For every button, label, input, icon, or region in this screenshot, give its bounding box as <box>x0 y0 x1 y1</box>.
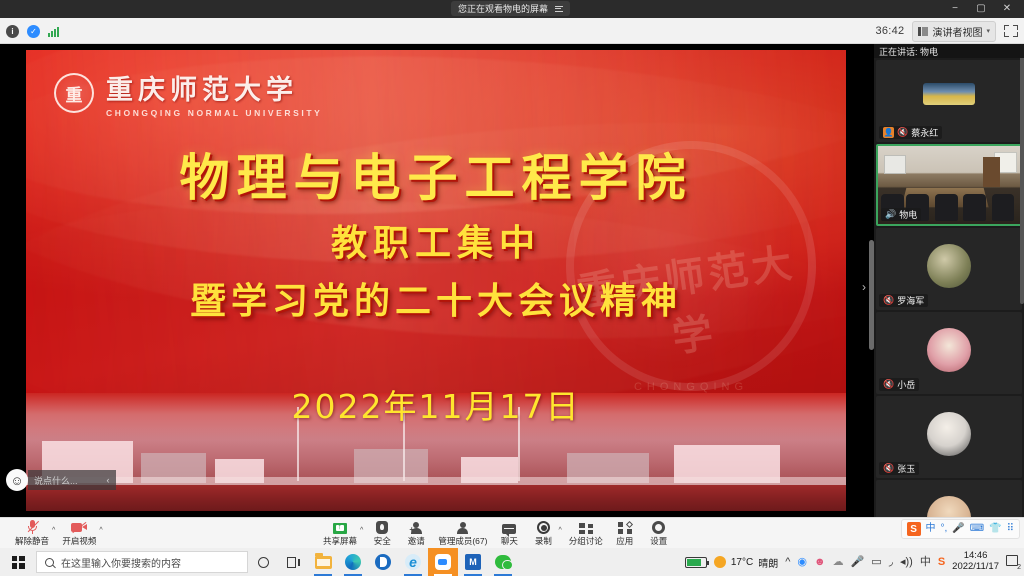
share-options-icon[interactable] <box>555 6 563 12</box>
search-placeholder: 在这里输入你要搜索的内容 <box>61 555 181 570</box>
taskbar-clock[interactable]: 14:46 2022/11/17 <box>952 551 999 572</box>
volume-icon[interactable]: ◂)) <box>900 557 913 568</box>
system-tray: 17°C 晴朗 ^ ◉ ☻ ☁ 🎤 ▭ ◞ ◂)) 中 S 14:46 2022… <box>685 548 1020 576</box>
taskbar-app-wechat[interactable] <box>488 548 518 576</box>
cloud-tray-icon[interactable]: ☁ <box>833 557 844 568</box>
university-logo: 重 重庆师范大学 CHONGQING NORMAL UNIVERSITY <box>54 68 322 118</box>
security-label: 安全 <box>374 535 391 547</box>
zoom-titlebar: 您正在观看物电的屏幕 − ▢ ✕ <box>0 0 1024 18</box>
record-button[interactable]: 录制 <box>526 518 560 549</box>
participant-name: 蔡永红 <box>911 126 938 139</box>
meeting-control-bar: 解除静音 ^ 开启视频 ^ 共享屏幕 ^ 安全 + <box>0 517 1024 548</box>
mic-active-icon: 🔊 <box>885 210 896 219</box>
clock-date: 2022/11/17 <box>952 562 999 573</box>
ime-voice-icon[interactable]: 🎤 <box>952 524 964 534</box>
taskbar-app-browser[interactable] <box>398 548 428 576</box>
filmstrip-scrollbar[interactable] <box>1020 44 1024 304</box>
chat-collapse-icon[interactable]: ‹ <box>100 470 116 490</box>
start-video-label: 开启视频 <box>62 535 96 547</box>
microsoft-edge-icon <box>345 554 361 570</box>
record-icon <box>537 520 550 534</box>
participant-name-badge: 🔇 张玉 <box>879 462 919 475</box>
start-button[interactable] <box>0 548 36 576</box>
slide-subtitle-2: 暨学习党的二十大会议精神 <box>26 272 846 324</box>
settings-label: 设置 <box>650 535 667 547</box>
cortana-icon <box>258 557 269 568</box>
start-video-button[interactable]: 开启视频 <box>57 518 101 549</box>
taskbar-app-edge[interactable] <box>338 548 368 576</box>
meeting-timer: 36:42 <box>875 25 904 37</box>
avatar <box>927 412 971 456</box>
university-seal-icon: 重 <box>54 73 94 113</box>
taskbar-app-zoom[interactable] <box>428 548 458 576</box>
ime-tray-icon[interactable]: 中 <box>920 557 931 568</box>
avatar <box>927 244 971 288</box>
participant-tile-zhangyu[interactable]: 🔇 张玉 <box>876 396 1022 478</box>
speaker-view-icon <box>918 27 928 36</box>
participants-button[interactable]: 管理成员(67) <box>433 518 492 549</box>
breakout-rooms-button[interactable]: 分组讨论 <box>564 518 608 549</box>
security-button[interactable]: 安全 <box>365 518 399 549</box>
university-name-en: CHONGQING NORMAL UNIVERSITY <box>106 108 322 118</box>
meeting-info-bar: i ✓ 36:42 演讲者视图 ▾ <box>0 18 1024 44</box>
share-screen-label: 共享屏幕 <box>323 535 357 547</box>
task-view-button[interactable] <box>278 548 308 576</box>
settings-button[interactable]: 设置 <box>642 518 676 549</box>
participant-name-badge: 🔇 小岳 <box>879 378 919 391</box>
apps-icon <box>618 520 632 534</box>
unmute-button[interactable]: 解除静音 <box>10 518 54 549</box>
ime-skin-icon[interactable]: 👕 <box>989 524 1001 534</box>
settings-gear-icon <box>652 520 665 534</box>
invite-button[interactable]: + 邀请 <box>399 518 433 549</box>
host-badge-icon: 👤 <box>883 127 894 138</box>
maximize-button[interactable]: ▢ <box>968 0 994 18</box>
notification-count: 2 <box>1017 564 1021 571</box>
screen-share-notice[interactable]: 您正在观看物电的屏幕 <box>451 1 570 16</box>
security-shield-icon <box>376 520 388 534</box>
search-icon <box>45 558 54 567</box>
cortana-button[interactable] <box>248 548 278 576</box>
ime-toolbox-icon[interactable]: ⠿ <box>1007 524 1014 534</box>
tray-overflow-chevron-icon[interactable]: ^ <box>785 557 790 568</box>
microphone-tray-icon[interactable]: 🎤 <box>851 557 865 568</box>
chat-input[interactable]: 说点什么... <box>28 470 100 490</box>
presentation-slide: 重庆师范大学 CHONGQING 重 重庆师范大学 <box>26 50 846 511</box>
mic-muted-icon: 🔇 <box>897 128 908 137</box>
participant-name: 张玉 <box>897 462 915 475</box>
invite-person-icon: + <box>409 520 423 534</box>
mic-muted-icon: 🔇 <box>883 296 894 305</box>
participant-name-badge: 👤 🔇 蔡永红 <box>879 126 942 139</box>
sogou-ime-bar: S 中 °, 🎤 ⌨ 👕 ⠿ <box>901 519 1020 539</box>
slide-date: 2022年11月17日 <box>26 380 846 428</box>
network-signal-icon[interactable] <box>48 26 59 37</box>
meeting-view-controls: 36:42 演讲者视图 ▾ <box>875 18 1018 44</box>
chat-icon <box>502 520 516 534</box>
fullscreen-icon[interactable] <box>1004 24 1018 38</box>
taskbar-search-input[interactable]: 在这里输入你要搜索的内容 <box>36 551 248 573</box>
weather-temperature: 17°C <box>731 557 753 568</box>
participants-icon <box>456 520 470 534</box>
participant-name-badge: 🔇 罗海军 <box>879 294 928 307</box>
slide-subtitle-1: 教职工集中 <box>26 214 846 266</box>
mic-muted-icon: 🔇 <box>883 464 894 473</box>
screen-tray-icon[interactable]: ▭ <box>871 557 881 568</box>
participant-tile-next[interactable]: ⌄ <box>876 480 1022 517</box>
wechat-icon <box>495 555 511 569</box>
mic-muted-icon: 🔇 <box>883 380 894 389</box>
headset-tray-icon[interactable]: ☻ <box>814 557 826 568</box>
sun-icon <box>714 556 726 568</box>
apps-label: 应用 <box>616 535 633 547</box>
participants-label: 管理成员(67) <box>438 535 487 547</box>
chat-button[interactable]: 聊天 <box>492 518 526 549</box>
slide-title: 物理与电子工程学院 <box>26 138 846 210</box>
notification-center-button[interactable]: 2 <box>1006 555 1020 569</box>
participant-name-badge: 🔊 物电 <box>881 208 921 221</box>
participant-name: 小岳 <box>897 378 915 391</box>
stage-scrollbar[interactable] <box>869 240 874 350</box>
blue-app-icon <box>465 554 481 570</box>
participant-filmstrip: 正在讲话: 物电 👤 🔇 蔡永红 🔊 <box>874 44 1024 517</box>
participant-tile-wudian[interactable]: 🔊 物电 <box>876 144 1022 226</box>
ime-punctuation-toggle[interactable]: °, <box>941 524 948 534</box>
windows-taskbar: 在这里输入你要搜索的内容 17°C 晴朗 ^ ◉ ☻ ☁ 🎤 ▭ ◞ ◂)) 中 <box>0 548 1024 576</box>
battery-icon[interactable] <box>685 557 707 568</box>
internet-browser-icon <box>405 554 421 570</box>
ime-mode-toggle[interactable]: 中 <box>926 524 936 534</box>
close-button[interactable]: ✕ <box>994 0 1020 18</box>
camera-off-icon <box>71 520 87 534</box>
task-view-icon <box>287 557 300 568</box>
minimize-button[interactable]: − <box>942 0 968 18</box>
participant-tile-caiyonghong[interactable]: 👤 🔇 蔡永红 <box>876 60 1022 142</box>
file-explorer-icon <box>315 556 332 569</box>
chevron-down-icon: ▾ <box>986 27 990 35</box>
wifi-icon[interactable]: ◞ <box>889 557 893 568</box>
avatar <box>927 328 971 372</box>
filmstrip-collapse-icon[interactable]: › <box>862 280 866 294</box>
emoji-icon[interactable]: ☺ <box>6 469 28 491</box>
taskbar-app-lens[interactable] <box>368 548 398 576</box>
record-label: 录制 <box>535 535 552 547</box>
university-name-cn: 重庆师范大学 <box>106 68 322 107</box>
sogou-logo-icon[interactable]: S <box>907 522 921 536</box>
participant-tile-xiaoyue[interactable]: 🔇 小岳 <box>876 312 1022 394</box>
camera-tray-icon[interactable]: ◉ <box>797 557 807 568</box>
screen-root: 您正在观看物电的屏幕 − ▢ ✕ i ✓ 36:42 演讲者视图 ▾ <box>0 0 1024 576</box>
avatar <box>927 496 971 517</box>
weather-widget[interactable]: 17°C 晴朗 <box>714 555 778 570</box>
window-buttons: − ▢ ✕ <box>942 0 1020 18</box>
share-screen-icon <box>333 520 347 534</box>
participant-name: 物电 <box>899 208 917 221</box>
taskbar-app-file-explorer[interactable] <box>308 548 338 576</box>
weather-description: 晴朗 <box>758 555 778 570</box>
meeting-chat-overlay: ☺ 说点什么... ‹ <box>6 469 116 491</box>
meeting-info-icon[interactable]: i <box>6 25 19 38</box>
active-speaker-label: 正在讲话: 物电 <box>874 44 1024 58</box>
sogou-tray-icon[interactable]: S <box>938 557 945 568</box>
ime-keyboard-icon[interactable]: ⌨ <box>970 524 984 534</box>
share-screen-button[interactable]: 共享屏幕 <box>318 518 362 549</box>
participant-name: 罗海军 <box>897 294 924 307</box>
breakout-rooms-icon <box>579 520 593 534</box>
zoom-meeting-icon <box>435 554 451 570</box>
meeting-status-icons: i ✓ <box>6 18 59 44</box>
view-mode-selector[interactable]: 演讲者视图 ▾ <box>912 21 996 42</box>
shared-screen-stage: 重庆师范大学 CHONGQING 重 重庆师范大学 <box>0 44 874 517</box>
invite-label: 邀请 <box>408 535 425 547</box>
taskbar-app-blue[interactable] <box>458 548 488 576</box>
encryption-shield-icon[interactable]: ✓ <box>27 25 40 38</box>
participant-thumbnail <box>923 83 975 105</box>
apps-button[interactable]: 应用 <box>608 518 642 549</box>
mic-muted-icon <box>27 520 38 534</box>
share-notice-text: 您正在观看物电的屏幕 <box>458 2 548 15</box>
unmute-label: 解除静音 <box>15 535 49 547</box>
participant-tile-luohaijun[interactable]: 🔇 罗海军 <box>876 228 1022 310</box>
view-mode-label: 演讲者视图 <box>932 24 982 39</box>
windows-logo-icon <box>12 556 25 569</box>
breakout-rooms-label: 分组讨论 <box>569 535 603 547</box>
lens-app-icon <box>375 554 391 570</box>
